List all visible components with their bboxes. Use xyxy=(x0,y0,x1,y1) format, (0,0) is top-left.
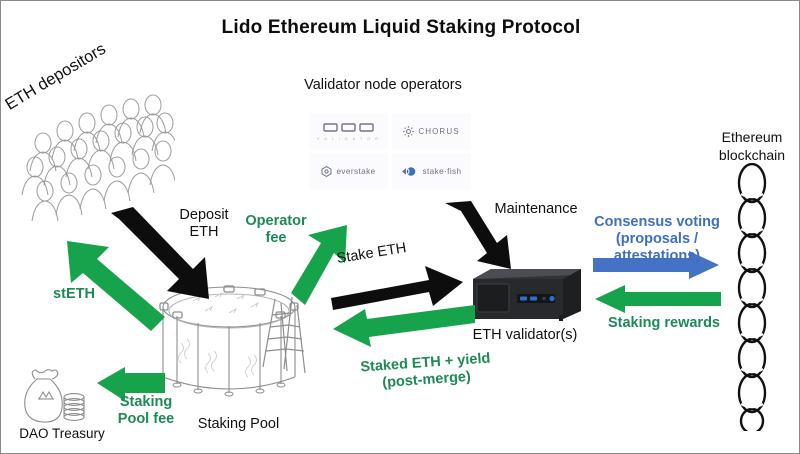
logo-everstake-text: everstake xyxy=(336,167,375,176)
operator-fee-label-line2: fee xyxy=(237,230,315,247)
consensus-voting-label-line1: Consensus voting xyxy=(583,214,731,231)
dao-treasury-label: DAO Treasury xyxy=(7,426,117,441)
blockchain-chain-illustration xyxy=(721,163,783,431)
stakefish-fish-icon xyxy=(401,166,418,177)
steth-label: stETH xyxy=(43,286,105,303)
consensus-voting-label-line2: (proposals / attestations) xyxy=(583,231,731,265)
p2p-logo-icon xyxy=(323,121,375,134)
deposit-eth-label-line1: Deposit xyxy=(159,207,249,224)
logo-p2p-validator-sub: V A L I D A T O R xyxy=(317,137,380,141)
validator-node-operators-title: Validator node operators xyxy=(263,77,503,93)
diagram-canvas: Lido Ethereum Liquid Staking Protocol xyxy=(0,0,800,454)
deposit-eth-label-line2: ETH xyxy=(159,224,249,241)
consensus-voting-label: Consensus voting (proposals / attestatio… xyxy=(583,214,731,265)
chorus-sunburst-icon xyxy=(403,126,414,137)
page-title: Lido Ethereum Liquid Staking Protocol xyxy=(1,17,800,39)
logo-p2p-validator: V A L I D A T O R xyxy=(309,113,388,149)
deposit-eth-label: Deposit ETH xyxy=(159,207,249,241)
validator-operator-logo-grid: V A L I D A T O R CHORUS everstake xyxy=(309,113,471,189)
logo-chorus: CHORUS xyxy=(392,113,471,149)
logo-stakefish: stake·fish xyxy=(392,153,471,189)
staked-eth-yield-label: Staked ETH + yield (post-merge) xyxy=(330,348,522,395)
operator-fee-label-line1: Operator xyxy=(237,213,315,230)
staking-rewards-label: Staking rewards xyxy=(599,315,729,332)
staking-pool-fee-label-line2: Pool fee xyxy=(111,411,181,428)
ethereum-blockchain-label-line2: blockchain xyxy=(703,147,800,165)
dao-treasury-illustration xyxy=(17,367,97,425)
staked-eth-yield-arrow xyxy=(331,303,477,349)
eth-validator-hardware-illustration xyxy=(467,263,583,325)
ethereum-blockchain-label-line1: Ethereum xyxy=(703,129,800,147)
ethereum-blockchain-label: Ethereum blockchain xyxy=(703,129,800,164)
logo-chorus-text: CHORUS xyxy=(418,127,459,136)
staking-pool-fee-label-line1: Staking xyxy=(111,394,181,411)
logo-everstake: everstake xyxy=(309,153,388,189)
steth-arrow xyxy=(65,237,171,333)
logo-stakefish-text: stake·fish xyxy=(422,167,461,176)
staking-rewards-arrow xyxy=(595,285,721,313)
everstake-hex-icon xyxy=(321,166,332,177)
operator-fee-label: Operator fee xyxy=(237,213,315,247)
maintenance-label: Maintenance xyxy=(481,201,591,218)
staking-pool-fee-label: Staking Pool fee xyxy=(111,394,181,429)
